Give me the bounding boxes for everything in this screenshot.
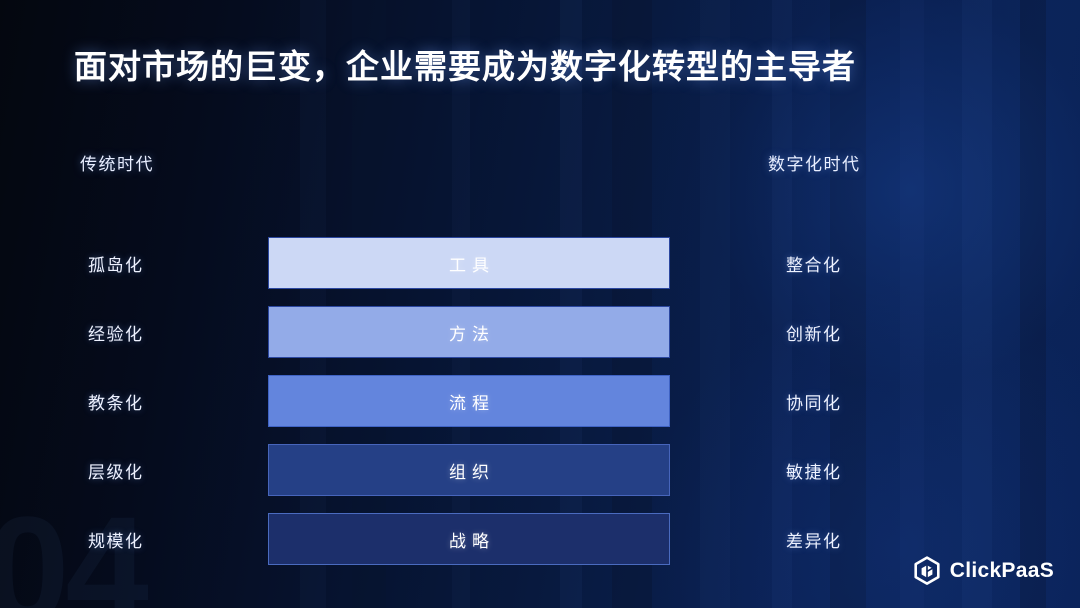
comparison-row: 教条化 流程 协同化 bbox=[0, 367, 1080, 435]
column-header-traditional: 传统时代 bbox=[80, 150, 154, 175]
comparison-row: 孤岛化 工具 整合化 bbox=[0, 229, 1080, 297]
comparison-rows: 孤岛化 工具 整合化 经验化 方法 创新化 教条化 流程 协同化 层级化 组织 bbox=[0, 229, 1080, 574]
center-bar[interactable]: 战略 bbox=[268, 513, 670, 565]
brand-name: ClickPaaS bbox=[950, 559, 1054, 583]
center-bar[interactable]: 流程 bbox=[268, 375, 670, 427]
center-bar-label: 流程 bbox=[443, 389, 495, 414]
row-left-label: 孤岛化 bbox=[88, 251, 144, 276]
comparison-row: 经验化 方法 创新化 bbox=[0, 298, 1080, 366]
row-right-label: 敏捷化 bbox=[786, 458, 842, 483]
row-left-label: 规模化 bbox=[88, 527, 144, 552]
center-bar-label: 组织 bbox=[443, 458, 495, 483]
hexagon-cube-icon bbox=[913, 556, 941, 586]
slide-canvas: 04 面对市场的巨变，企业需要成为数字化转型的主导者 传统时代 数字化时代 孤岛… bbox=[0, 0, 1080, 608]
center-bar[interactable]: 方法 bbox=[268, 306, 670, 358]
row-right-label: 协同化 bbox=[786, 389, 842, 414]
comparison-row: 层级化 组织 敏捷化 bbox=[0, 436, 1080, 504]
brand-logo: ClickPaaS bbox=[913, 556, 1054, 586]
center-bar[interactable]: 工具 bbox=[268, 237, 670, 289]
row-right-label: 整合化 bbox=[786, 251, 842, 276]
row-right-label: 差异化 bbox=[786, 527, 842, 552]
column-header-digital: 数字化时代 bbox=[768, 150, 861, 175]
center-bar-label: 工具 bbox=[443, 251, 495, 276]
row-right-label: 创新化 bbox=[786, 320, 842, 345]
row-left-label: 层级化 bbox=[88, 458, 144, 483]
row-left-label: 经验化 bbox=[88, 320, 144, 345]
row-left-label: 教条化 bbox=[88, 389, 144, 414]
page-title: 面对市场的巨变，企业需要成为数字化转型的主导者 bbox=[74, 40, 856, 88]
center-bar[interactable]: 组织 bbox=[268, 444, 670, 496]
center-bar-label: 战略 bbox=[443, 527, 495, 552]
center-bar-label: 方法 bbox=[443, 320, 495, 345]
